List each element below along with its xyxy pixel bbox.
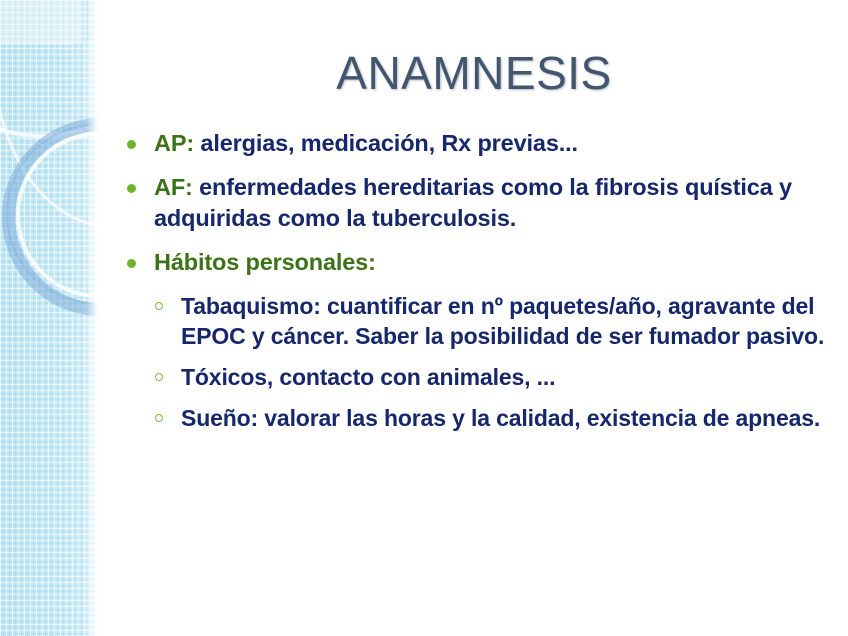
list-item: Tabaquismo: cuantificar en nº paquetes/a… [124, 291, 840, 351]
list-item-text: Sueño: valorar las horas y la calidad, e… [181, 405, 820, 431]
list-item-text: Tóxicos, contacto con animales, ... [181, 364, 555, 390]
page-title: ANAMNESIS [100, 46, 848, 100]
slide-canvas: ANAMNESIS AP: alergias, medicación, Rx p… [0, 0, 848, 636]
hollow-circle-bullet-icon [155, 373, 163, 381]
list-item-text: enfermedades hereditarias como la fibros… [154, 174, 792, 231]
list-item: AF: enfermedades hereditarias como la fi… [124, 172, 840, 234]
list-item-lead: AF: [154, 174, 193, 200]
filled-circle-bullet-icon [127, 140, 136, 149]
list-item-lead: AP: [154, 130, 194, 156]
list-item: AP: alergias, medicación, Rx previas... [124, 128, 840, 159]
list-item-text: Hábitos personales: [154, 249, 376, 275]
hollow-circle-bullet-icon [155, 414, 163, 422]
list-item-text: alergias, medicación, Rx previas... [194, 130, 578, 156]
list-item: Sueño: valorar las horas y la calidad, e… [124, 403, 840, 433]
bullet-list: AP: alergias, medicación, Rx previas... … [124, 128, 840, 444]
filled-circle-bullet-icon [127, 259, 136, 268]
list-item-text: Tabaquismo: cuantificar en nº paquetes/a… [181, 293, 824, 349]
decorative-sidebar [0, 0, 100, 636]
hollow-circle-bullet-icon [155, 302, 163, 310]
list-item: Tóxicos, contacto con animales, ... [124, 362, 840, 392]
filled-circle-bullet-icon [127, 184, 136, 193]
list-item: Hábitos personales: [124, 247, 840, 278]
sidebar-edge-fade [86, 0, 100, 636]
